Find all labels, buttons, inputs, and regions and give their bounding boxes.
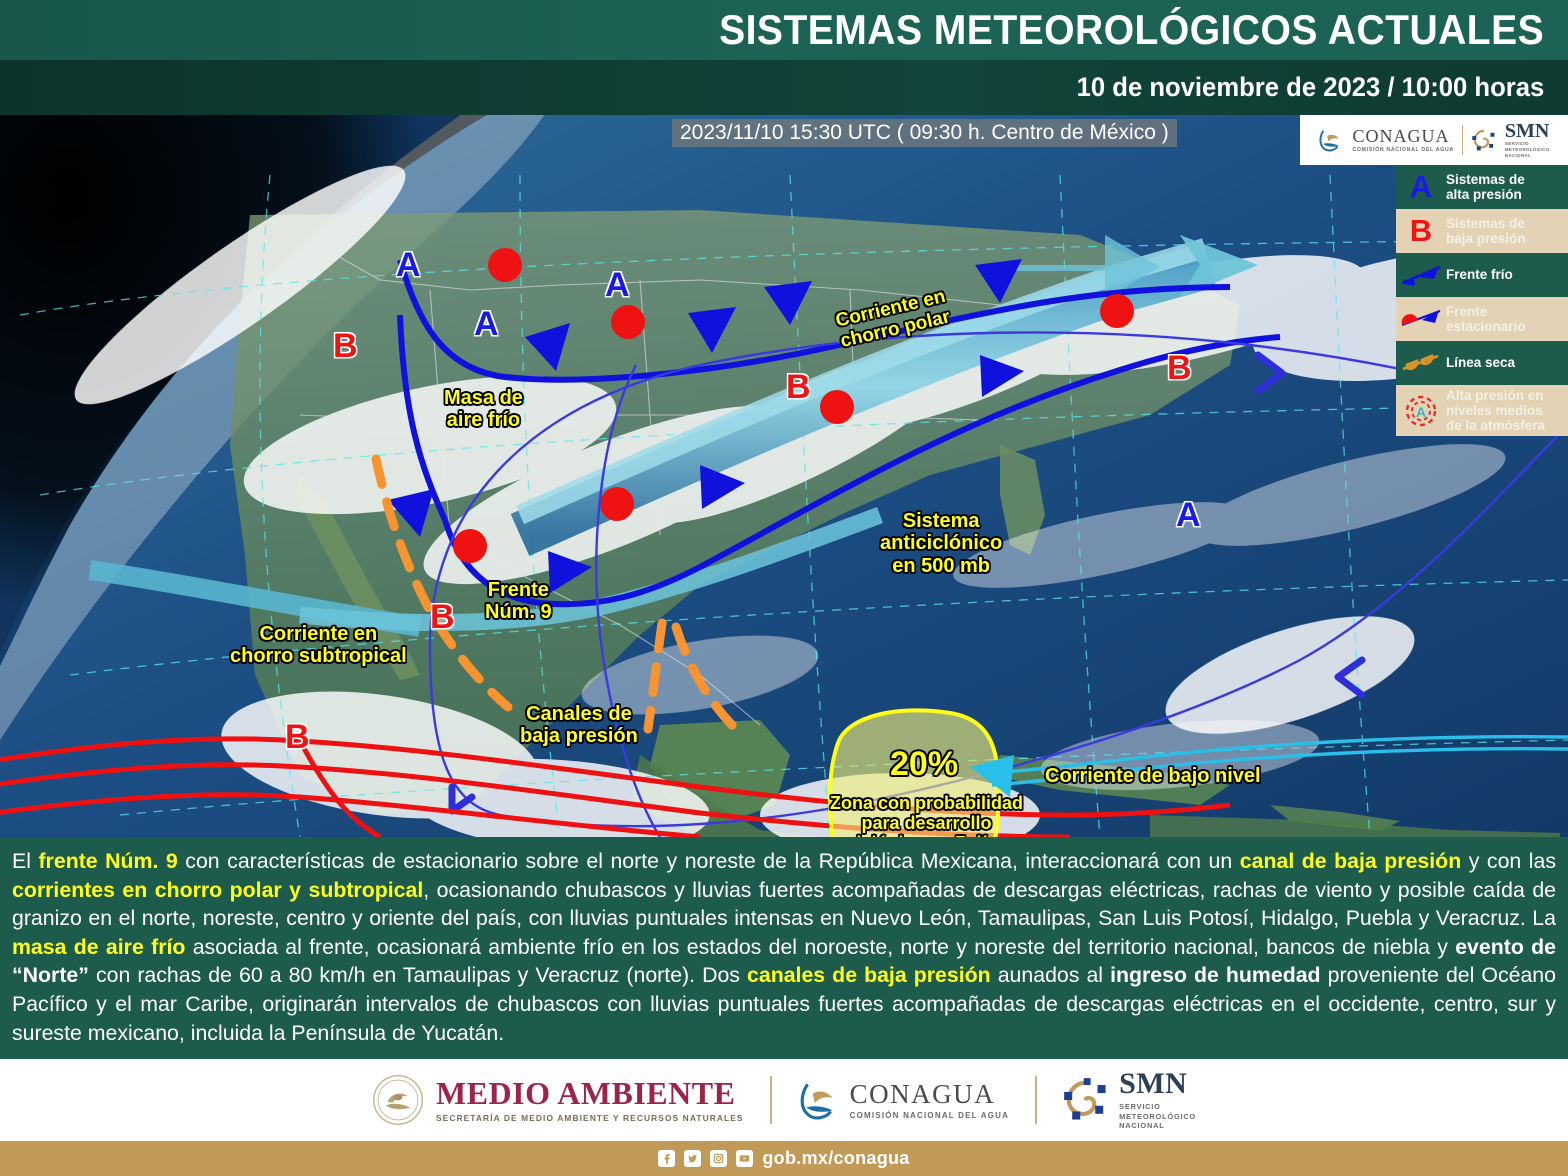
stationary-front-icon xyxy=(1396,307,1446,331)
facebook-icon[interactable] xyxy=(658,1150,675,1167)
mid-level-high-icon: A xyxy=(1396,394,1446,428)
smn-logo-icon xyxy=(1063,1077,1109,1123)
forecast-description-text: El frente Núm. 9 con características de … xyxy=(12,847,1556,1047)
label-cyclone-probability-pct: 20% xyxy=(890,745,958,783)
conagua-footer-logo: CONAGUA COMISIÓN NACIONAL DEL AGUA xyxy=(798,1079,1010,1121)
legend-item-low-pressure: B Sistemas debaja presión xyxy=(1396,209,1568,253)
label-anticyclone-500mb: Sistemaanticiclónicoen 500 mb xyxy=(880,510,1002,577)
svg-text:A: A xyxy=(1416,404,1426,420)
medio-ambiente-logo: MEDIO AMBIENTE SECRETARÍA DE MEDIO AMBIE… xyxy=(372,1074,744,1126)
smn-subtitle: SERVICIOMETEOROLÓGICONACIONAL xyxy=(1119,1102,1196,1132)
mexican-coat-of-arms-icon xyxy=(372,1074,424,1126)
pressure-symbol-B: B xyxy=(285,720,310,754)
smn-logo-icon xyxy=(1471,127,1497,153)
header-date-bar: 10 de noviembre de 2023 / 10:00 horas xyxy=(0,60,1568,115)
high-pressure-A-icon: A xyxy=(1396,169,1446,205)
smn-wordmark: SMN xyxy=(1119,1069,1187,1099)
dry-line-icon xyxy=(1396,351,1446,375)
conagua-wordmark: CONAGUA xyxy=(1352,127,1449,145)
medio-ambiente-subtitle: SECRETARÍA DE MEDIO AMBIENTE Y RECURSOS … xyxy=(436,1113,744,1123)
legend-item-mid-level-high: A Alta presión enniveles mediosde la atm… xyxy=(1396,385,1568,436)
youtube-icon[interactable] xyxy=(736,1150,753,1167)
logo-divider xyxy=(1462,125,1463,155)
social-media-bar: gob.mx/conagua xyxy=(0,1141,1568,1176)
conagua-logo-icon xyxy=(798,1079,840,1121)
pressure-symbol-A: A xyxy=(605,268,630,302)
conagua-subtitle: COMISIÓN NACIONAL DEL AGUA xyxy=(850,1111,1010,1120)
map-timestamp: 2023/11/10 15:30 UTC ( 09:30 h. Centro d… xyxy=(672,119,1177,147)
pressure-symbol-A: A xyxy=(1176,498,1201,532)
low-pressure-B-icon: B xyxy=(1396,213,1446,249)
social-handle[interactable]: gob.mx/conagua xyxy=(762,1148,909,1169)
map-graphics xyxy=(0,115,1568,837)
pressure-symbol-B: B xyxy=(1167,351,1192,385)
satellite-weather-map: 2023/11/10 15:30 UTC ( 09:30 h. Centro d… xyxy=(0,115,1568,837)
conagua-wordmark: CONAGUA xyxy=(850,1081,996,1108)
label-low-level-jet: Corriente de bajo nivel xyxy=(1045,765,1261,787)
header-date: 10 de noviembre de 2023 / 10:00 horas xyxy=(1076,70,1544,104)
footer-divider xyxy=(1035,1076,1037,1124)
smn-wordmark: SMN xyxy=(1505,121,1549,141)
legend-label: Frente frío xyxy=(1446,267,1517,282)
twitter-icon[interactable] xyxy=(684,1150,701,1167)
weather-infographic: SISTEMAS METEOROLÓGICOS ACTUALES 10 de n… xyxy=(0,0,1568,1176)
label-low-pressure-channels: Canales debaja presión xyxy=(520,703,638,748)
cold-front-icon xyxy=(1396,263,1446,287)
footer-divider xyxy=(770,1076,772,1124)
medio-ambiente-wordmark: MEDIO AMBIENTE xyxy=(436,1077,735,1109)
legend-label: Sistemas debaja presión xyxy=(1446,216,1530,246)
legend-label: Sistemas dealta presión xyxy=(1446,172,1529,202)
legend-item-cold-front: Frente frío xyxy=(1396,253,1568,297)
pressure-symbol-B: B xyxy=(430,600,455,634)
footer-logo-bar: MEDIO AMBIENTE SECRETARÍA DE MEDIO AMBIE… xyxy=(0,1059,1568,1141)
legend-label: Línea seca xyxy=(1446,355,1519,370)
label-subtropical-jet: Corriente enchorro subtropical xyxy=(230,623,407,668)
pressure-symbol-B: B xyxy=(786,370,811,404)
label-cold-air-mass: Masa deaire frío xyxy=(444,387,523,432)
legend-item-stationary-front: Frenteestacionario xyxy=(1396,297,1568,341)
label-front-9: FrenteNúm. 9 xyxy=(485,579,552,624)
pressure-symbol-A: A xyxy=(474,307,499,341)
smn-subtitle: SERVICIOMETEOROLÓGICONACIONAL xyxy=(1505,141,1550,158)
smn-footer-logo: SMN SERVICIOMETEOROLÓGICONACIONAL xyxy=(1063,1069,1196,1132)
legend-item-high-pressure: A Sistemas dealta presión xyxy=(1396,165,1568,209)
instagram-icon[interactable] xyxy=(710,1150,727,1167)
legend-label: Frenteestacionario xyxy=(1446,304,1530,334)
conagua-subtitle: COMISIÓN NACIONAL DEL AGUA xyxy=(1352,147,1453,153)
conagua-logo-icon xyxy=(1318,127,1344,153)
label-cyclone-zone: Zona con probabilidadpara desarrollocicl… xyxy=(830,793,1023,837)
header-banner: SISTEMAS METEOROLÓGICOS ACTUALES xyxy=(0,0,1568,60)
map-legend: A Sistemas dealta presión B Sistemas deb… xyxy=(1396,165,1568,436)
legend-label: Alta presión enniveles mediosde la atmós… xyxy=(1446,388,1549,433)
legend-item-dry-line: Línea seca xyxy=(1396,341,1568,385)
forecast-description-panel: El frente Núm. 9 con características de … xyxy=(0,837,1568,1059)
map-logo-bar: CONAGUA COMISIÓN NACIONAL DEL AGUA SMN S… xyxy=(1300,115,1568,165)
pressure-symbol-B: B xyxy=(333,329,358,363)
pressure-symbol-A: A xyxy=(396,248,421,282)
page-title: SISTEMAS METEOROLÓGICOS ACTUALES xyxy=(719,4,1544,56)
